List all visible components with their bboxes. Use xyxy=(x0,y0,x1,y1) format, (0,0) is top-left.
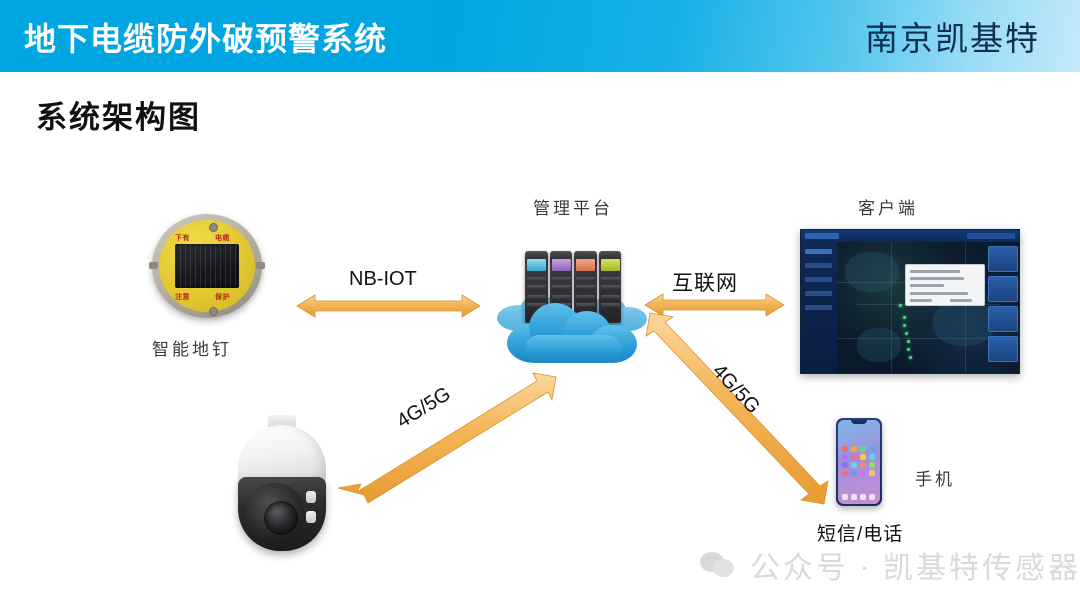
phone-dock xyxy=(842,494,876,500)
nail-text-top-left: 下有 xyxy=(175,233,190,243)
link-label-4g5g-camera: 4G/5G xyxy=(393,383,455,434)
sidebar-item-4[interactable] xyxy=(805,291,832,296)
dashboard-topbar-right xyxy=(967,233,1015,239)
sidebar-item-5[interactable] xyxy=(805,305,832,310)
management-platform xyxy=(495,243,650,368)
watermark: 公众号 · 凯基特传感器 xyxy=(700,543,1080,587)
nail-text-top-right: 电缆 xyxy=(215,233,230,243)
arrow-nb-iot xyxy=(297,295,480,317)
panel-button-1[interactable] xyxy=(988,246,1018,272)
camera-lens xyxy=(264,501,298,535)
nail-face: 下有 电缆 注意 保护 xyxy=(159,220,255,312)
phone-app-grid xyxy=(842,446,876,476)
link-label-4g5g-phone: 4G/5G xyxy=(707,360,764,419)
panel-button-4[interactable] xyxy=(988,336,1018,362)
sidebar-item-1[interactable] xyxy=(805,249,832,254)
sidebar-item-3[interactable] xyxy=(805,277,832,282)
header-brand: 南京凯基特 xyxy=(865,12,1040,60)
page-title: 系统架构图 xyxy=(36,92,201,137)
header-title: 地下电缆防外破预警系统 xyxy=(24,14,387,60)
phone-sublabel: 短信/电话 xyxy=(817,519,903,546)
phone-label: 手机 xyxy=(915,465,955,490)
smart-nail-label: 智能地钉 xyxy=(152,335,232,360)
phone-screen xyxy=(838,420,880,504)
arrow-internet xyxy=(645,294,784,316)
nail-text-bottom-right: 保护 xyxy=(215,292,230,302)
watermark-text: 公众号 · 凯基特传感器 xyxy=(750,543,1080,587)
link-label-nb-iot: NB-IOT xyxy=(349,268,417,291)
phone-notch xyxy=(851,420,867,424)
link-label-internet: 互联网 xyxy=(672,267,738,297)
panel-button-2[interactable] xyxy=(988,276,1018,302)
nail-screw-bottom xyxy=(209,307,218,316)
panel-button-3[interactable] xyxy=(988,306,1018,332)
dashboard-logo xyxy=(805,233,839,239)
camera-body xyxy=(238,477,326,551)
map-info-popup[interactable] xyxy=(905,264,985,306)
wechat-icon xyxy=(700,552,740,578)
nail-screw-top xyxy=(209,223,218,232)
platform-label: 管理平台 xyxy=(533,194,613,219)
client-dashboard[interactable] xyxy=(800,229,1020,374)
dashboard-sidebar[interactable] xyxy=(801,242,837,373)
dashboard-topbar xyxy=(801,230,1019,242)
dashboard-action-panel[interactable] xyxy=(988,246,1016,364)
solar-panel-icon xyxy=(175,244,239,288)
camera-ir-led-2 xyxy=(306,511,316,523)
ptz-camera-device xyxy=(228,415,336,565)
sidebar-item-2[interactable] xyxy=(805,263,832,268)
smart-nail-device: 下有 电缆 注意 保护 xyxy=(152,214,262,318)
nail-text-bottom-left: 注意 xyxy=(175,292,190,302)
camera-lens-ring xyxy=(246,483,304,541)
camera-ir-led-1 xyxy=(306,491,316,503)
mobile-phone-device xyxy=(836,418,882,506)
cloud-front-icon xyxy=(507,301,637,363)
client-label: 客户端 xyxy=(858,194,918,219)
